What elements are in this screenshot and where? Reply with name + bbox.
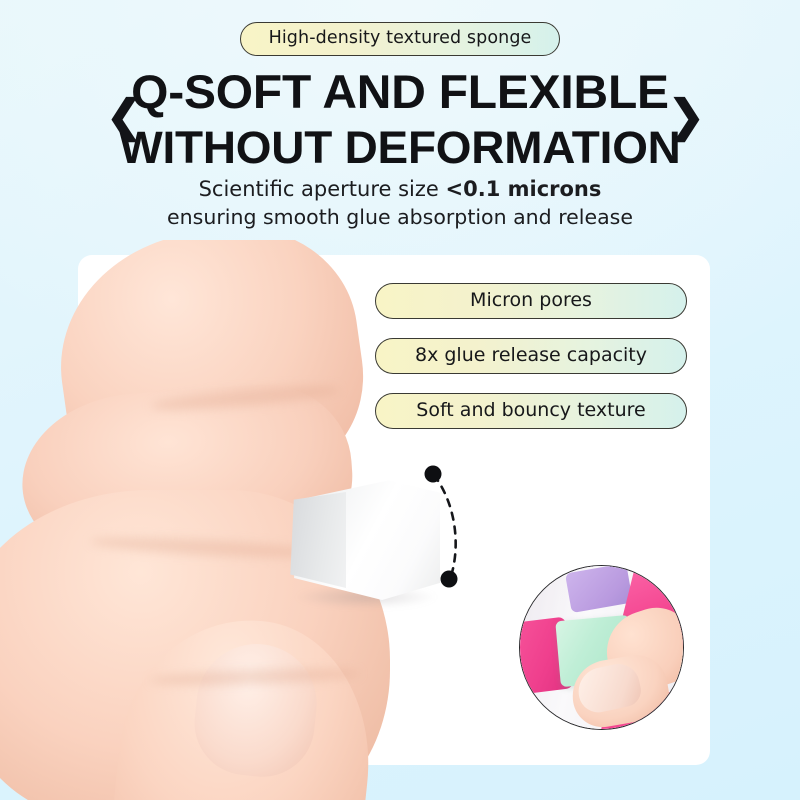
feature-pill-soft-bouncy-texture: Soft and bouncy texture [375,393,687,429]
subtitle-block: Scientific aperture size <0.1 microns en… [0,176,800,231]
chevron-left-icon: ❮ [106,95,143,139]
deformation-marker-top-icon [425,466,442,483]
feature-pill-glue-release-capacity: 8x glue release capacity [375,338,687,374]
badge-high-density-sponge: High-density textured sponge [240,22,561,56]
subtitle-line-2: ensuring smooth glue absorption and rele… [0,204,800,231]
feature-pill-micron-pores: Micron pores [375,283,687,319]
subtitle-prefix: Scientific aperture size [199,177,446,201]
deformation-marker-bottom-icon [441,571,458,588]
top-badge-container: High-density textured sponge [0,22,800,56]
product-feature-banner: High-density textured sponge Q-SOFT AND … [0,0,800,800]
subtitle-line-1: Scientific aperture size <0.1 microns [0,176,800,204]
subtitle-emphasis: <0.1 microns [446,177,602,201]
sponge-side-face [288,492,346,588]
chevron-right-icon: ❯ [668,95,705,139]
circular-inset-photo [519,565,684,730]
feature-pill-list: Micron pores 8x glue release capacity So… [375,283,687,448]
dashed-deformation-curve [434,475,456,579]
deformation-annotation [410,455,490,605]
